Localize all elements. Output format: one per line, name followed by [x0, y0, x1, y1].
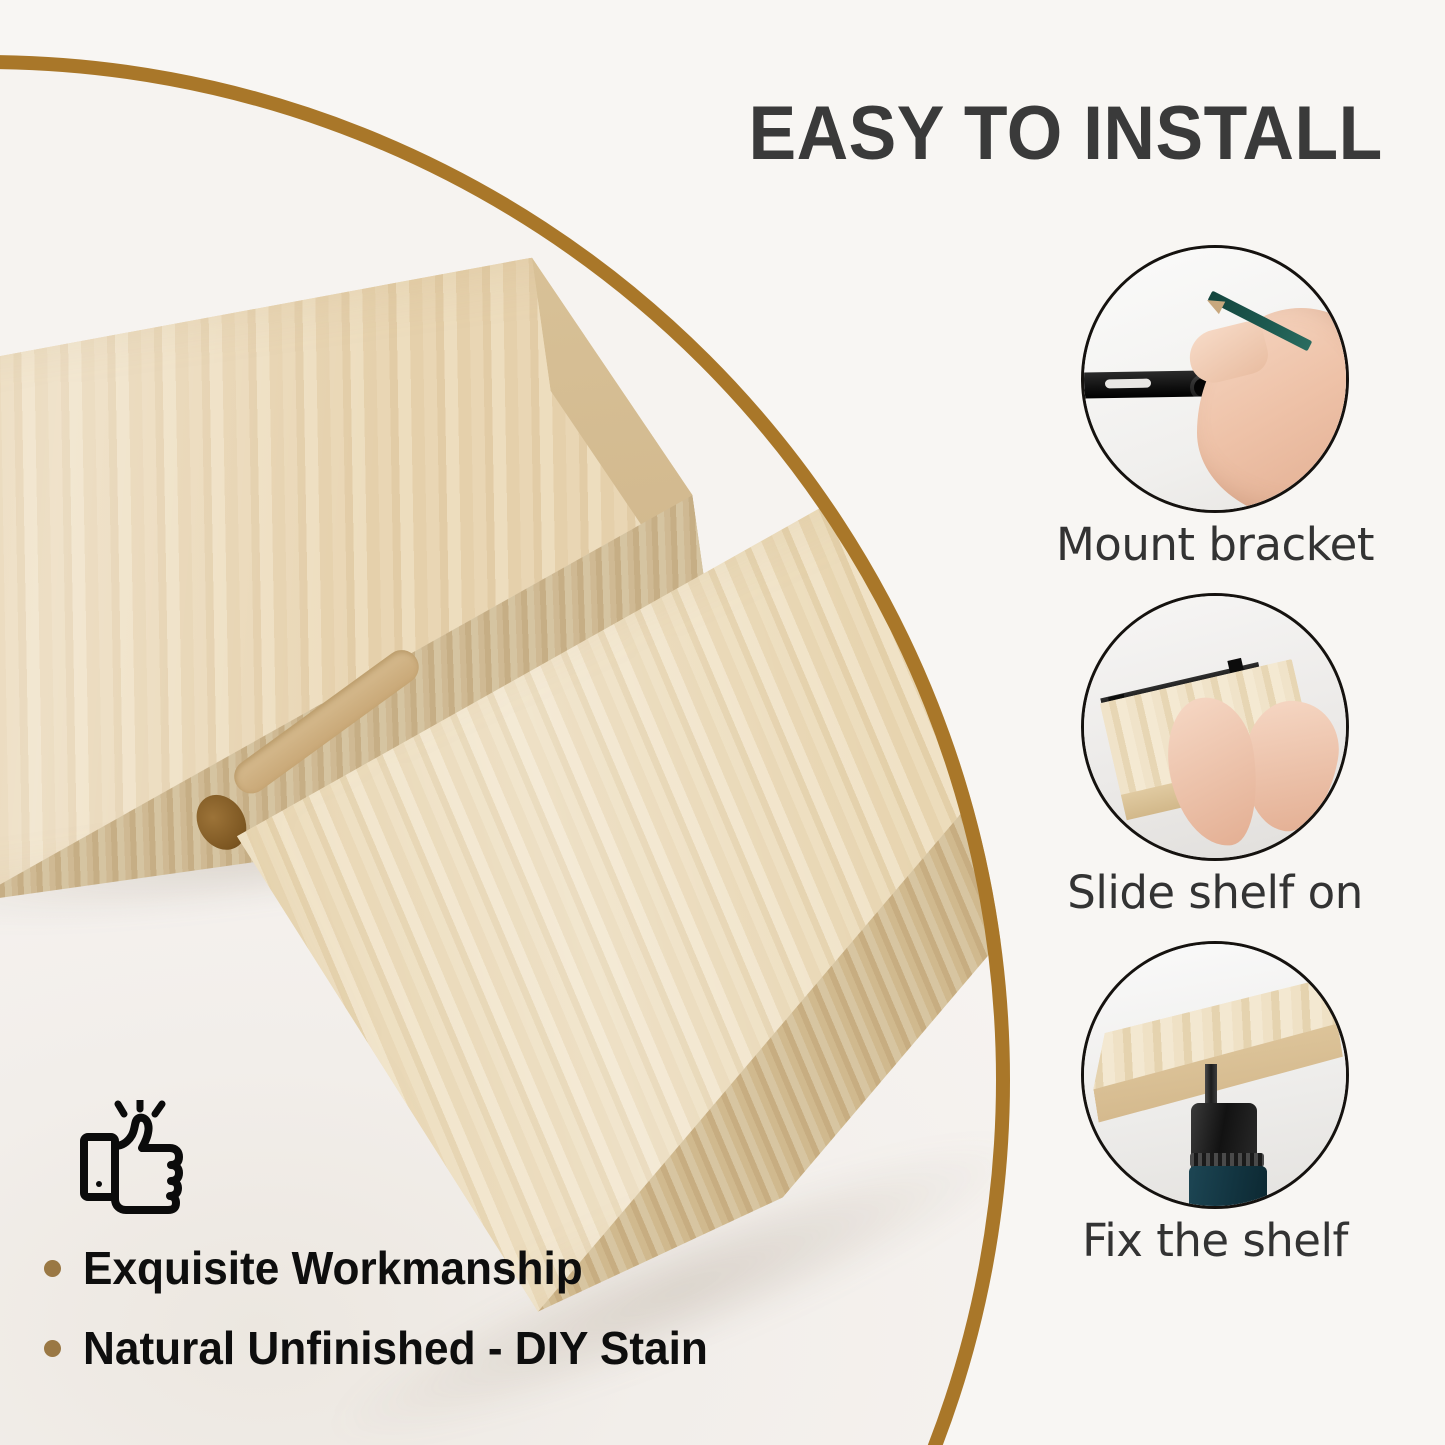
step-1-photo: [1081, 245, 1349, 513]
feature-block: Exquisite Workmanship Natural Unfinished…: [44, 1100, 824, 1405]
install-step-3: Fix the shelf: [1025, 941, 1405, 1267]
feature-item: Exquisite Workmanship: [44, 1245, 824, 1291]
install-step-2: Slide shelf on: [1025, 593, 1405, 919]
feature-label: Exquisite Workmanship: [83, 1245, 583, 1291]
drill-clutch-collar: [1190, 1153, 1264, 1167]
infographic-page: EASY TO INSTALL Mount bracket: [0, 0, 1445, 1445]
bullet-dot-icon: [44, 1340, 61, 1357]
drill-body: [1189, 1166, 1267, 1208]
install-step-1: Mount bracket: [1025, 245, 1405, 571]
install-steps-list: Mount bracket Slide shelf on: [1025, 245, 1405, 1288]
step-3-photo: [1081, 941, 1349, 1209]
feature-label: Natural Unfinished - DIY Stain: [83, 1325, 708, 1371]
bracket-slot: [1105, 379, 1151, 389]
page-title: EASY TO INSTALL: [749, 96, 1383, 172]
thumbs-up-icon: [78, 1100, 824, 1223]
step-2-photo: [1081, 593, 1349, 861]
step-3-label: Fix the shelf: [1025, 1215, 1405, 1267]
feature-item: Natural Unfinished - DIY Stain: [44, 1325, 824, 1371]
bullet-dot-icon: [44, 1260, 61, 1277]
step-2-label: Slide shelf on: [1025, 867, 1405, 919]
step-1-label: Mount bracket: [1025, 519, 1405, 571]
feature-list: Exquisite Workmanship Natural Unfinished…: [44, 1245, 824, 1371]
